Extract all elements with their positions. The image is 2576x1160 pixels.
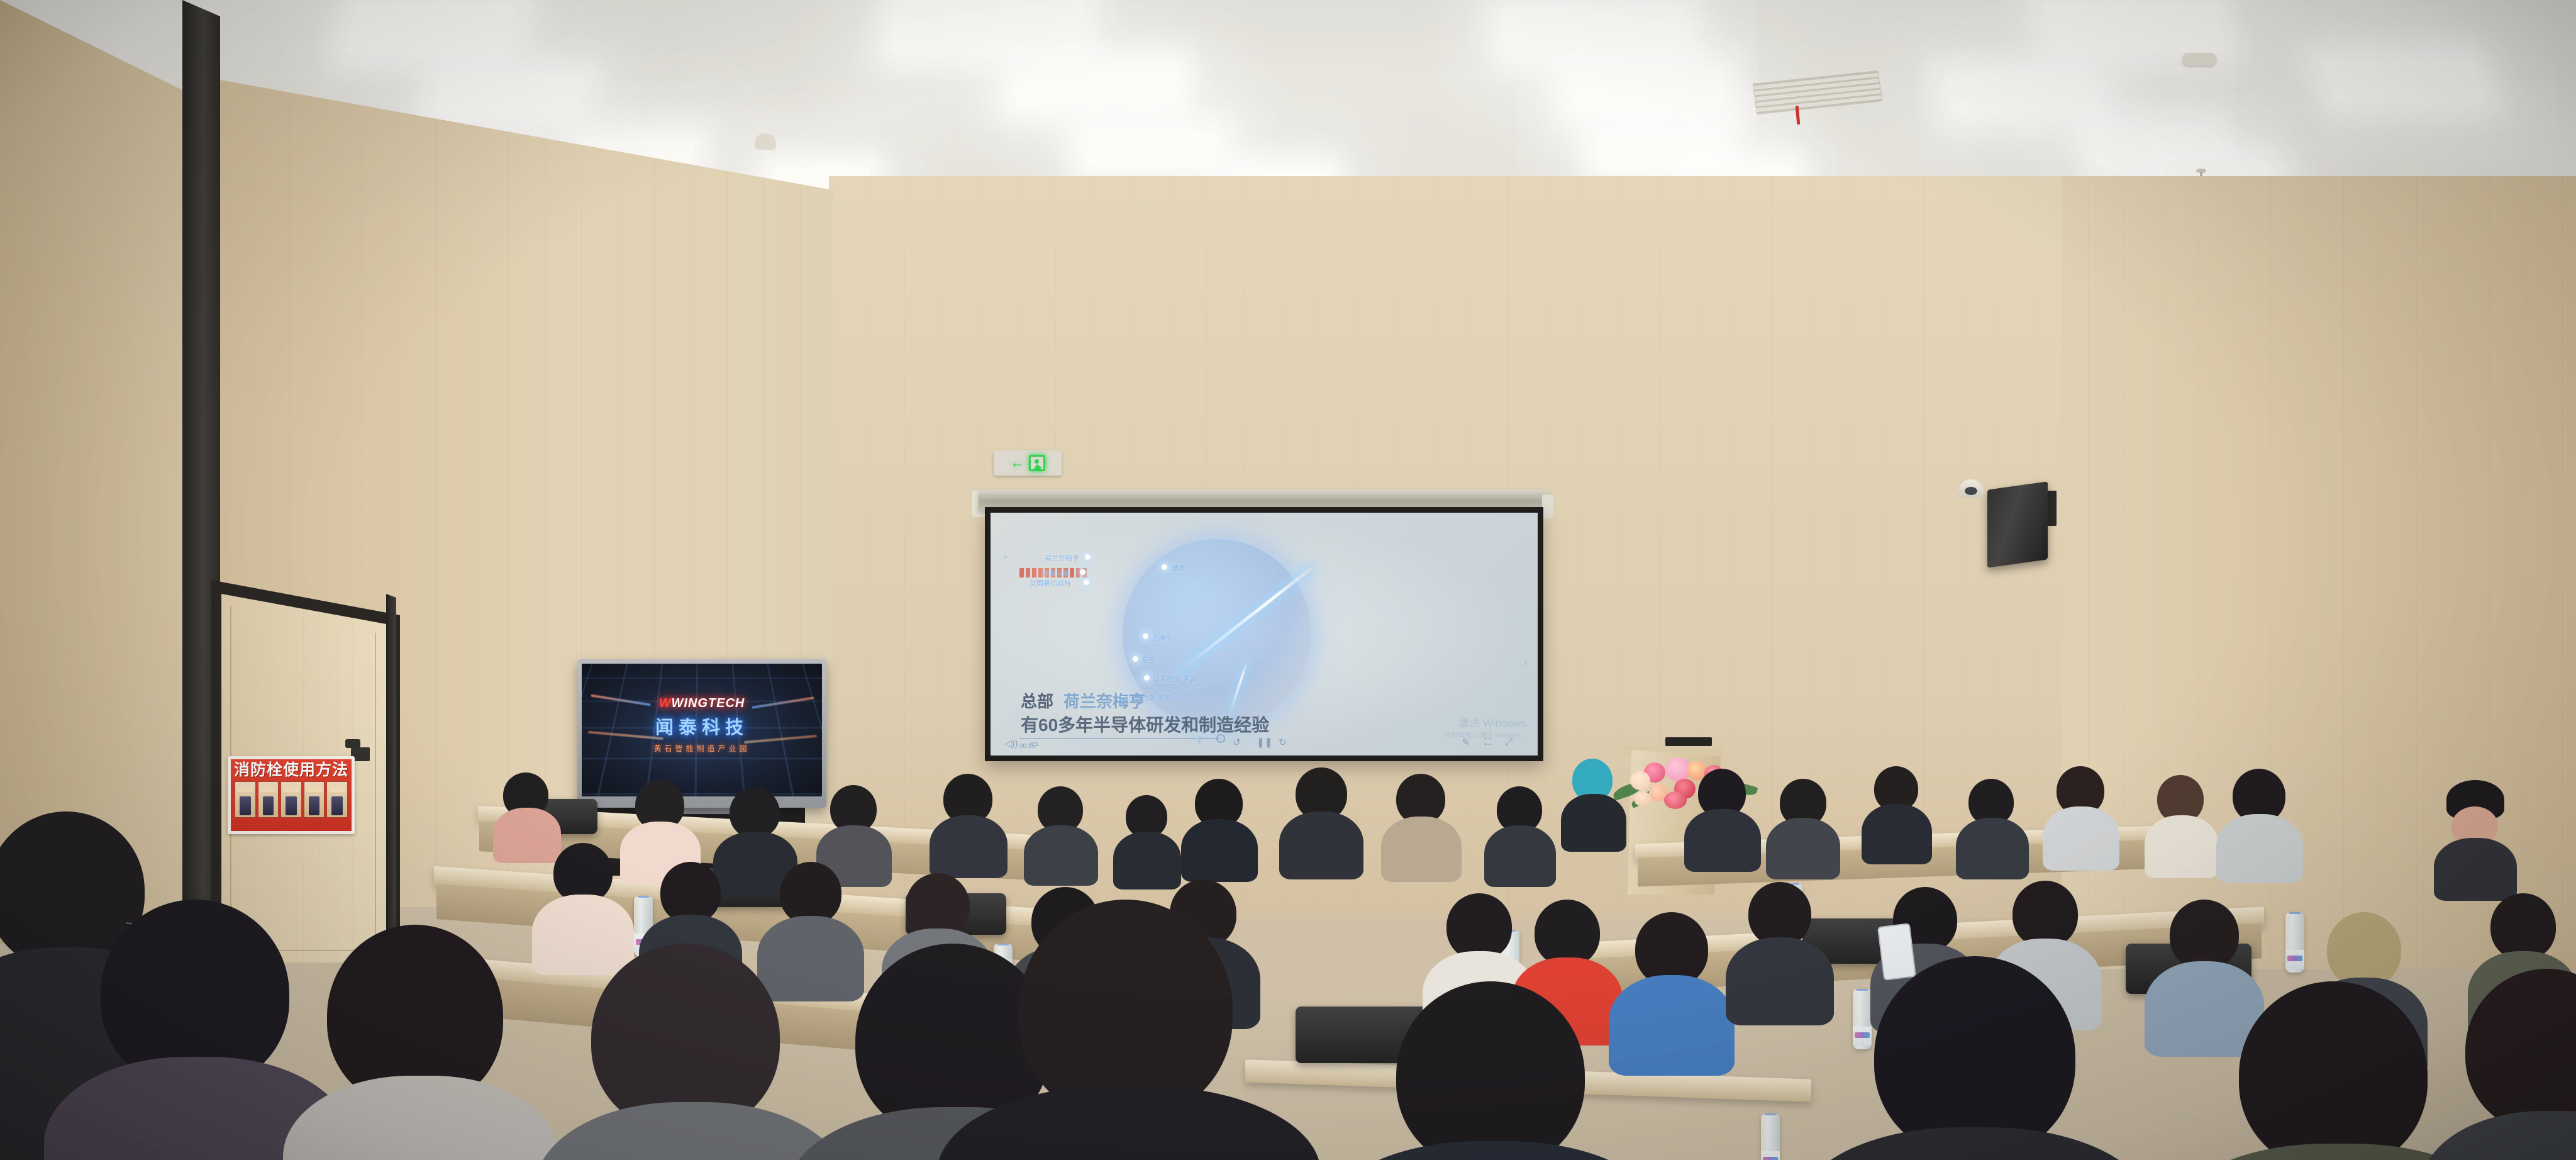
ceiling-light-panel — [1017, 63, 1179, 104]
slide-headline-location: 荷兰奈梅亨 — [1063, 692, 1145, 711]
water-bottle[interactable] — [2285, 912, 2304, 973]
ceiling-light-panel — [1570, 70, 1724, 108]
tv-brand-block: WWINGTECH 闻泰科技 黄石智能制造产业园 — [582, 696, 822, 754]
city-dot — [1162, 564, 1167, 570]
ceiling-light-panel — [1087, 133, 1216, 166]
ceiling-light-panel — [1946, 74, 2098, 113]
navy-jacket — [1327, 1141, 1660, 1160]
city-label: 英国曼彻斯特 — [1030, 578, 1071, 588]
fire-poster-step — [304, 781, 325, 818]
subtitle-icon[interactable]: ▭ — [1030, 738, 1038, 749]
slide-back-arrow-icon[interactable]: ← — [1002, 549, 1013, 562]
city-dot — [1085, 554, 1091, 560]
podium-microphone — [1665, 737, 1712, 746]
ceiling-light-panel — [2320, 60, 2484, 102]
ceiling-light-panel — [345, 4, 516, 53]
ceiling-light-panel — [2045, 4, 2226, 52]
smartphone[interactable] — [1877, 923, 1916, 981]
ceiling-light-panel — [2090, 132, 2224, 165]
ceiling-light-panel — [435, 75, 584, 114]
screen-roller-cap-right — [1542, 494, 1553, 518]
slide-forward-arrow-icon[interactable]: › — [1524, 656, 1528, 670]
fire-poster-steps — [233, 781, 349, 818]
fire-poster-step — [235, 781, 256, 818]
wall-left — [0, 0, 189, 944]
tv-brand-prefix: W — [659, 696, 672, 710]
city-label: 瑞典 — [1172, 563, 1185, 573]
slide-headline: 总部荷兰奈梅亨 — [1021, 689, 1145, 712]
wall-tv-display[interactable]: WWINGTECH 闻泰科技 黄石智能制造产业园 — [577, 659, 826, 808]
volume-icon[interactable]: ◁)) — [1004, 738, 1018, 749]
fire-poster-step — [258, 781, 279, 818]
conference-room-photo: ← 消防栓使用方法 — [0, 0, 2576, 1160]
exit-arrow-icon: ← — [1010, 455, 1025, 471]
city-label: 上海市 — [1152, 632, 1172, 642]
city-label: 东莞 — [1141, 655, 1155, 665]
ceiling-light-panel — [1596, 137, 1718, 169]
tv-brand-cn: 闻泰科技 — [582, 713, 822, 739]
forward-icon[interactable]: ↻ — [1279, 737, 1287, 748]
ceiling-light-panel — [1501, 9, 1687, 54]
rewind-icon[interactable]: ↺ — [1233, 737, 1241, 748]
fire-poster-step — [326, 781, 348, 818]
watermark-line-1: 激活 Windows — [1445, 714, 1526, 730]
door-handle[interactable] — [345, 739, 360, 748]
ceiling-light-panel — [890, 0, 1085, 53]
pause-icon[interactable]: ❚❚ — [1257, 737, 1272, 748]
tv-screen-content: WWINGTECH 闻泰科技 黄石智能制造产业园 — [582, 664, 822, 796]
smoke-detector-icon — [2182, 53, 2216, 65]
blue-hoodie — [1609, 975, 1735, 1076]
watermark-line-2: 转到"设置"以激活 Windows。 — [1445, 730, 1526, 739]
water-bottle[interactable] — [1853, 989, 1872, 1049]
fire-poster-step — [280, 781, 302, 818]
slide-headline-label: 总部 — [1021, 692, 1053, 711]
dome-camera-icon — [755, 133, 776, 150]
wall-speaker — [1987, 481, 2048, 567]
windows-activation-watermark: 激活 Windows 转到"设置"以激活 Windows。 — [1445, 714, 1526, 739]
city-dot — [1133, 656, 1138, 662]
fire-hydrant-instruction-poster: 消防栓使用方法 — [228, 756, 355, 834]
tv-brand-en: WINGTECH — [672, 696, 745, 710]
projection-screen: ← › 上海市 东莞 马来西亚·芙蓉 马来西亚·美 — [985, 507, 1543, 761]
city-dot — [1084, 579, 1089, 585]
water-bottle[interactable] — [1761, 1113, 1780, 1160]
tv-subtitle-cn: 黄石智能制造产业园 — [582, 743, 822, 754]
city-dot — [1143, 633, 1148, 639]
fire-poster-title: 消防栓使用方法 — [233, 762, 349, 778]
city-label: 马来西亚·芙蓉 — [1153, 674, 1197, 684]
city-dot — [1144, 675, 1150, 681]
city-label: 德国汉堡 — [1042, 568, 1070, 578]
door-jamb-strip — [386, 594, 396, 971]
running-man-icon — [1029, 455, 1045, 471]
mouse-cursor-icon — [1197, 736, 1204, 745]
projected-slide: ← › 上海市 东莞 马来西亚·芙蓉 马来西亚·美 — [991, 513, 1538, 756]
slide-tagline: 有60多年半导体研发和制造经验 — [1021, 711, 1269, 737]
city-dot — [1080, 569, 1085, 575]
emergency-exit-sign: ← — [994, 450, 1062, 476]
city-label: 荷兰奈梅亨 — [1045, 553, 1079, 563]
